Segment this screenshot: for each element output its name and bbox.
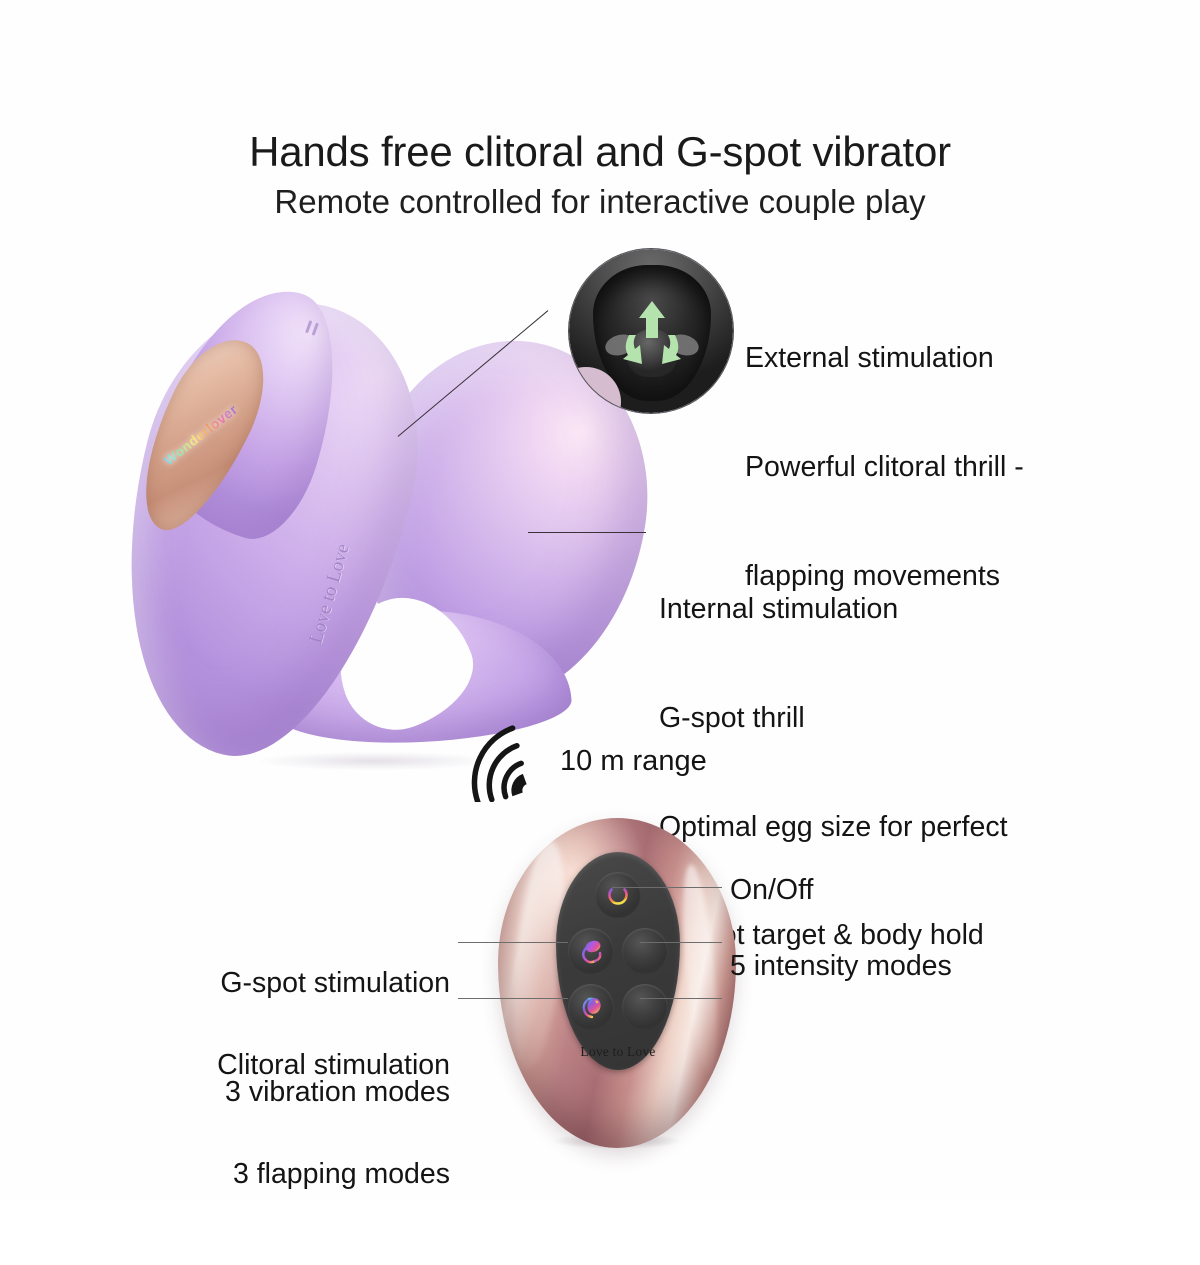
- power-button[interactable]: [595, 872, 641, 918]
- remote-brand-label: Love to Love: [556, 1044, 680, 1060]
- leader-line-on-off: [612, 887, 722, 888]
- gspot-device-icon: [577, 937, 605, 965]
- clitoral-label-line-1: Clitoral stimulation: [120, 1047, 450, 1083]
- internal-line-1: Internal stimulation: [659, 591, 1008, 627]
- leader-line-clitoral: [458, 998, 568, 999]
- clitoral-device-icon: [577, 993, 605, 1021]
- page-subtitle: Remote controlled for interactive couple…: [0, 184, 1200, 220]
- leader-line-intensity: [640, 942, 722, 943]
- clitoral-label-line-2: 3 flapping modes: [120, 1156, 450, 1192]
- power-icon: [605, 882, 631, 908]
- flapping-direction-arrows-icon: [569, 249, 733, 413]
- intensity-modes-label: 5 intensity modes: [730, 948, 952, 984]
- on-off-label: On/Off: [730, 872, 813, 908]
- gspot-mode-button[interactable]: [568, 928, 614, 974]
- magnified-nozzle-callout: [568, 248, 734, 414]
- external-line-1: External stimulation: [745, 340, 1024, 376]
- page-title: Hands free clitoral and G-spot vibrator: [0, 129, 1200, 174]
- infographic-canvas: Hands free clitoral and G-spot vibrator …: [0, 0, 1200, 1200]
- leader-line-gspot: [458, 942, 568, 943]
- intensity-up-button[interactable]: [622, 928, 668, 974]
- wireless-range-icon: [462, 724, 572, 802]
- range-label: 10 m range: [560, 745, 707, 778]
- remote-control: Love to Love: [498, 818, 736, 1148]
- intensity-down-button[interactable]: [622, 984, 668, 1030]
- leader-line-internal: [528, 532, 646, 533]
- clitoral-modes-label: Clitoral stimulation 3 flapping modes: [120, 975, 450, 1265]
- external-line-2: Powerful clitoral thrill -: [745, 449, 1024, 485]
- internal-line-2: G-spot thrill: [659, 700, 1008, 736]
- product-panel-wordmark: Wonderlover: [161, 401, 240, 468]
- magnified-nozzle-scene: [569, 249, 733, 413]
- leader-line-intensity-minus: [640, 998, 722, 999]
- clitoral-mode-button[interactable]: [568, 984, 614, 1030]
